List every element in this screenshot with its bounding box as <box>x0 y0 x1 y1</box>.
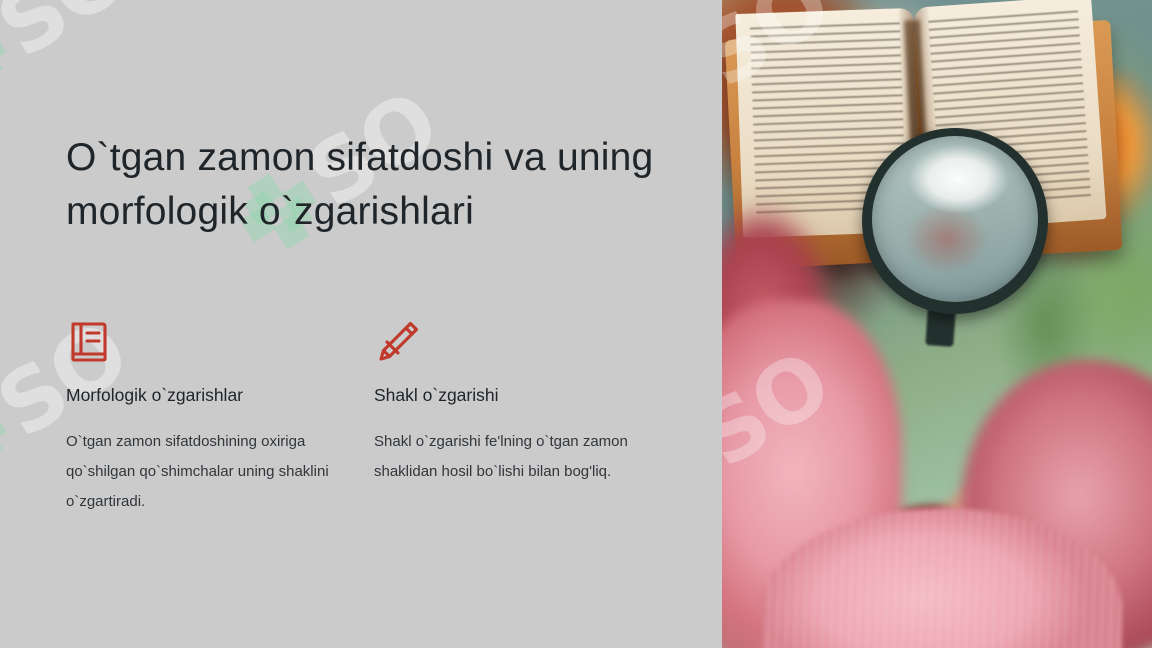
watermark-logo-icon <box>0 390 20 492</box>
magnifier-lens <box>872 136 1038 302</box>
page-title: O`tgan zamon sifatdoshi va uning morfolo… <box>66 131 666 239</box>
feature-body: Shakl o`zgarishi fe'lning o`tgan zamon s… <box>374 427 659 487</box>
feature-column-shakl: Shakl o`zgarishi Shakl o`zgarishi fe'lni… <box>374 318 682 517</box>
watermark-logo-icon <box>0 10 20 112</box>
pencil-icon <box>374 318 682 370</box>
feature-body: O`tgan zamon sifatdoshining oxiriga qo`s… <box>66 427 351 517</box>
book-icon <box>66 318 374 370</box>
feature-column-morfologik: Morfologik o`zgarishlar O`tgan zamon sif… <box>66 318 374 517</box>
watermark-text: SO <box>0 0 141 72</box>
content-panel: SO SO SO SO O`tgan zamon sifat <box>0 0 722 648</box>
feature-heading: Morfologik o`zgarishlar <box>66 384 374 406</box>
slide-canvas: SO SO SO SO O`tgan zamon sifat <box>0 0 1152 648</box>
feature-heading: Shakl o`zgarishi <box>374 384 682 406</box>
slide-photo: SO SO <box>722 0 1152 648</box>
feature-columns: Morfologik o`zgarishlar O`tgan zamon sif… <box>66 318 686 517</box>
